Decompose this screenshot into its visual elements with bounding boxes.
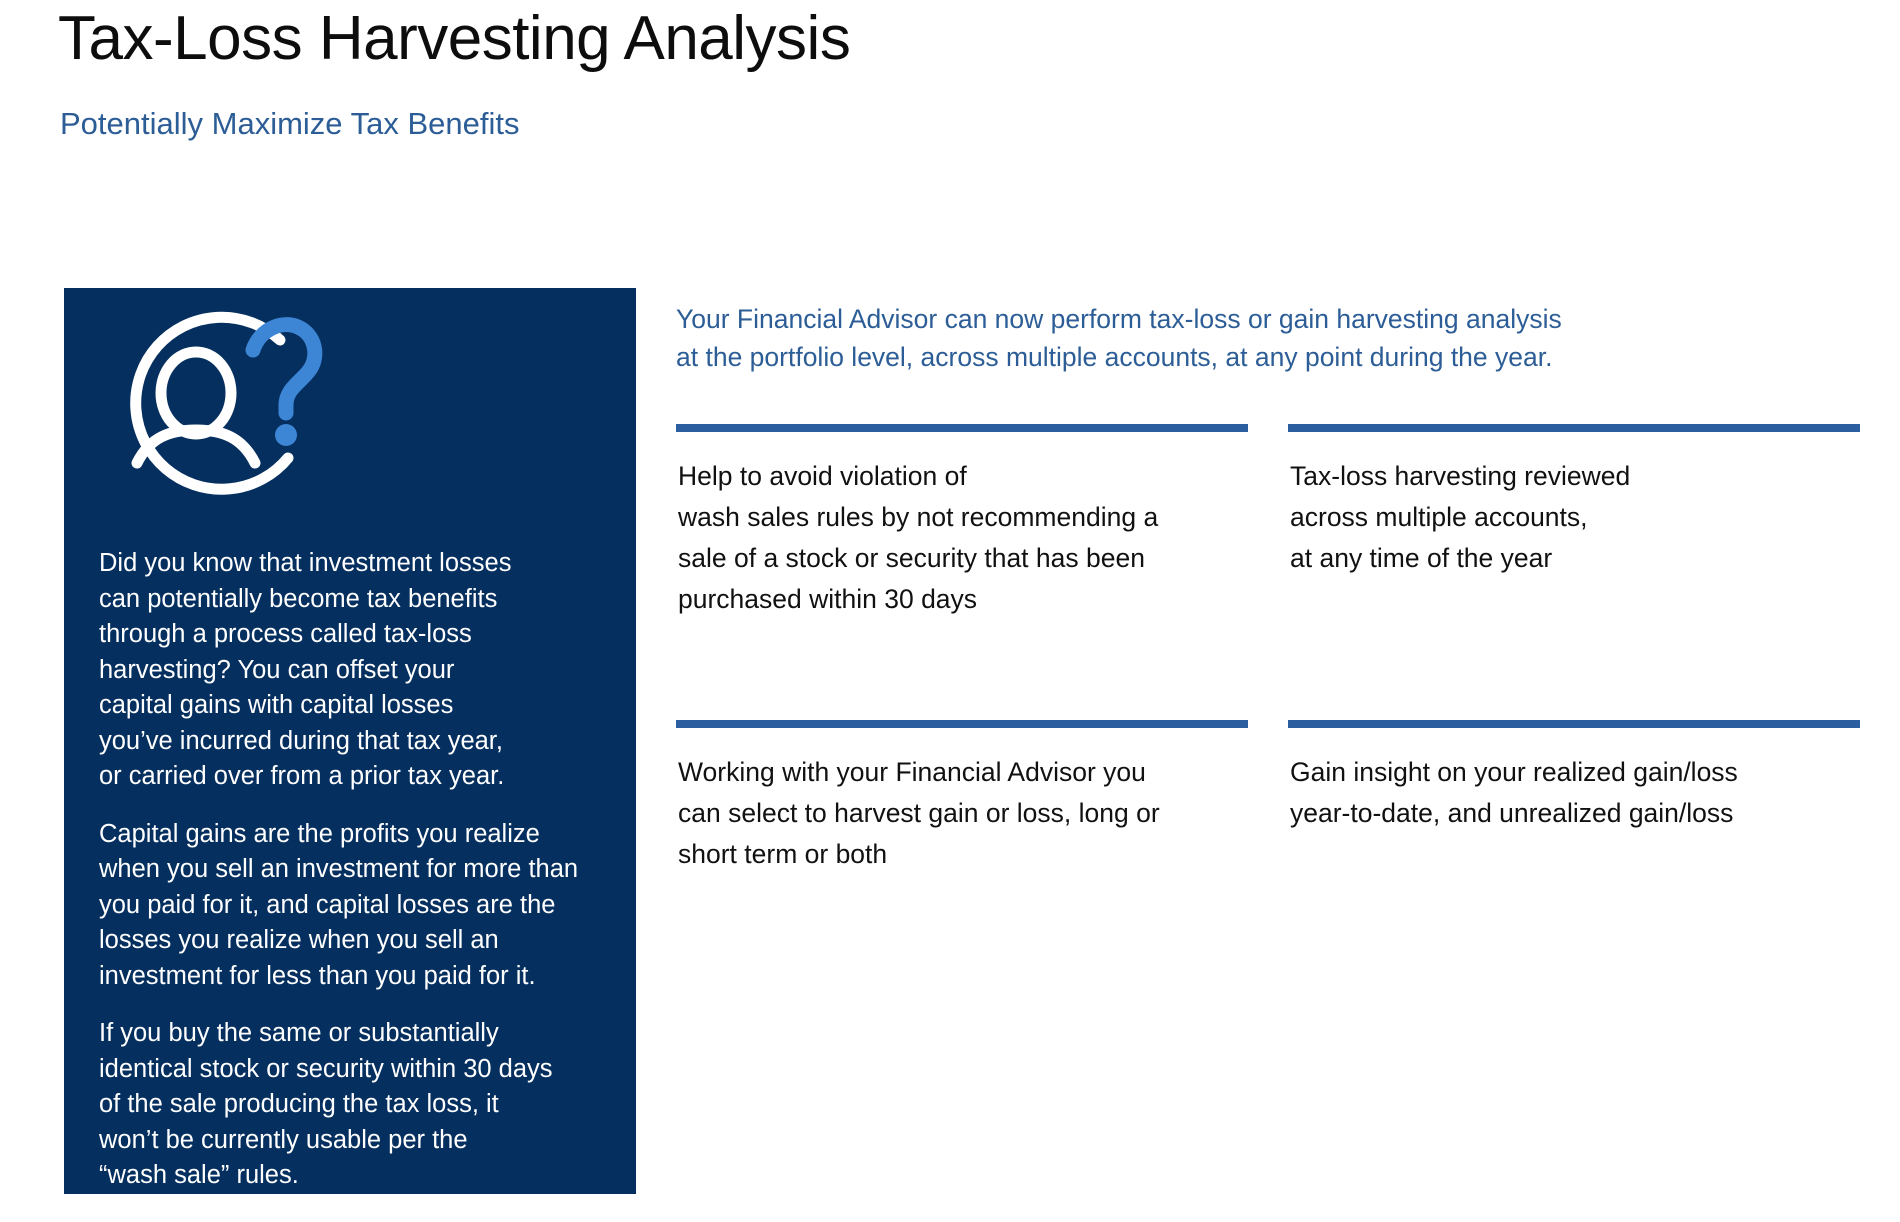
info-paragraph-1: Did you know that investment losses can … — [99, 546, 614, 795]
info-panel: Did you know that investment losses can … — [64, 288, 636, 1194]
card-top-rule — [1288, 720, 1860, 728]
info-paragraph-2: Capital gains are the profits you realiz… — [99, 817, 614, 995]
feature-card-top-left: Help to avoid violation of wash sales ru… — [676, 424, 1248, 620]
feature-card-bottom-left: Working with your Financial Advisor you … — [676, 720, 1248, 875]
slide-canvas: Tax-Loss Harvesting Analysis Potentially… — [0, 0, 1900, 1222]
card-top-rule — [676, 424, 1248, 432]
feature-card-text: Gain insight on your realized gain/loss … — [1288, 752, 1860, 834]
feature-card-text: Working with your Financial Advisor you … — [676, 752, 1248, 875]
info-paragraph-3: If you buy the same or substantially ide… — [99, 1016, 614, 1194]
intro-text: Your Financial Advisor can now perform t… — [676, 300, 1836, 376]
feature-card-top-right: Tax-loss harvesting reviewed across mult… — [1288, 424, 1860, 579]
feature-card-text: Help to avoid violation of wash sales ru… — [676, 456, 1248, 620]
page-title: Tax-Loss Harvesting Analysis — [58, 6, 850, 73]
info-panel-body: Did you know that investment losses can … — [99, 546, 614, 1194]
feature-grid: Help to avoid violation of wash sales ru… — [676, 424, 1836, 984]
card-top-rule — [1288, 424, 1860, 432]
feature-card-text: Tax-loss harvesting reviewed across mult… — [1288, 456, 1860, 579]
card-top-rule — [676, 720, 1248, 728]
page-subtitle: Potentially Maximize Tax Benefits — [60, 105, 519, 142]
feature-card-bottom-right: Gain insight on your realized gain/loss … — [1288, 720, 1860, 834]
person-question-icon — [92, 306, 342, 521]
